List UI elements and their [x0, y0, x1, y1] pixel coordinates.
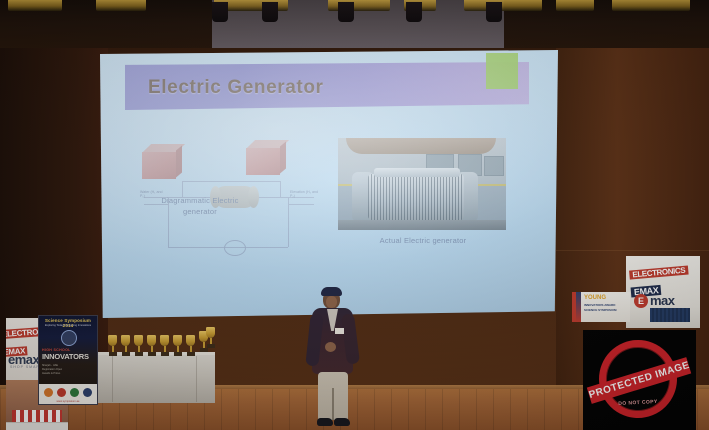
banner-footer-strip [6, 422, 68, 430]
photo-control-panel [484, 156, 504, 176]
ceiling-light [464, 0, 542, 11]
symposium-body-text: Sharjah - UAE Registration Open Awards &… [42, 364, 62, 375]
ceiling-spotlight [338, 2, 354, 22]
diagram-caption: Diagrammatic Electric generator [142, 196, 258, 218]
diagram-caption-line1: Diagrammatic Electric [161, 196, 238, 205]
magnet-block-left [142, 152, 176, 179]
trophy [186, 335, 195, 356]
protected-image-stamp-icon: DO NOT COPY PROTECTED IMAGE [591, 334, 687, 426]
circuit-wire [182, 181, 280, 182]
ceiling-spotlight [406, 2, 422, 22]
trophy [206, 327, 215, 348]
emax-right-line1: ELECTRONICS [629, 265, 688, 279]
slide-title: Electric Generator [148, 77, 324, 99]
presenter-badge [335, 328, 344, 334]
ceiling-spotlight [262, 2, 278, 22]
diagram-label-right: Elevation (H₂ and P₂) [290, 190, 318, 199]
sponsor-logo [57, 388, 66, 397]
ceiling-spotlight [212, 2, 228, 22]
sponsor-logo [83, 388, 92, 397]
ceiling-spotlight [486, 2, 502, 22]
trophy [147, 335, 156, 356]
banner-young-innovators: YOUNG INNOVATORS AWARD SCIENCE SYMPOSIUM [572, 292, 630, 322]
sponsor-logo [44, 388, 53, 397]
slide-accent-square [486, 53, 518, 89]
emax-e-mark-icon: E [634, 294, 648, 308]
photo-duct [346, 138, 496, 154]
ceiling-light [96, 0, 146, 11]
diagram-caption-line2: generator [183, 207, 217, 216]
table-cloth-fold [112, 356, 113, 402]
symposium-sponsor-strip: www.symposium.ae [39, 384, 97, 404]
young-banner-title: YOUNG [584, 295, 606, 301]
banner-emax-right: ELECTRONICS EMAX E max [626, 256, 700, 328]
wall-seam [556, 250, 709, 251]
presenter-shoe-left [317, 418, 333, 426]
symposium-url: www.symposium.ae [39, 400, 97, 403]
circuit-wire [280, 181, 281, 197]
photograph-scene: Electric Generator [0, 0, 709, 430]
circuit-wire [182, 181, 183, 197]
presenter-cap [321, 287, 342, 296]
presenter [303, 282, 363, 430]
trophy [160, 335, 169, 356]
symposium-seal-icon [61, 330, 77, 346]
watermark-stamp-box: DO NOT COPY PROTECTED IMAGE [583, 330, 696, 430]
photo-floor [338, 220, 506, 230]
trophy [134, 335, 143, 356]
ceiling-light [8, 0, 62, 11]
symposium-headline: INNOVATORS [42, 352, 89, 361]
galvanometer [224, 240, 246, 256]
trophy [173, 335, 182, 356]
table-cloth-fold [196, 356, 197, 402]
presenter-leg-split [332, 388, 334, 420]
sponsor-logo [70, 388, 79, 397]
generator-housing [368, 174, 464, 220]
projection-screen: Electric Generator [100, 50, 558, 318]
presenter-shoe-right [334, 418, 350, 426]
generator-photo [338, 138, 506, 230]
trophy [121, 335, 130, 356]
presenter-face [326, 296, 337, 308]
generator-top-cover [374, 168, 460, 177]
circuit-wire [288, 204, 314, 205]
emax-right-wordmark: max [650, 293, 675, 308]
photo-caption: Actual Electric generator [348, 236, 498, 247]
magnet-block-right [246, 148, 280, 175]
ceiling-light [556, 0, 594, 11]
presenter-hand [325, 342, 336, 352]
trophy [108, 335, 117, 356]
banner-science-symposium: Science Symposium 2014 Exploring Todays … [38, 315, 98, 405]
ceiling-light [612, 0, 690, 11]
symposium-subtitle: Exploring Todays Upcoming Innovations [39, 324, 97, 327]
young-banner-subtitle: INNOVATORS AWARD SCIENCE SYMPOSIUM [584, 303, 617, 312]
emax-right-pattern [650, 308, 690, 322]
young-banner-stripe [576, 292, 581, 322]
